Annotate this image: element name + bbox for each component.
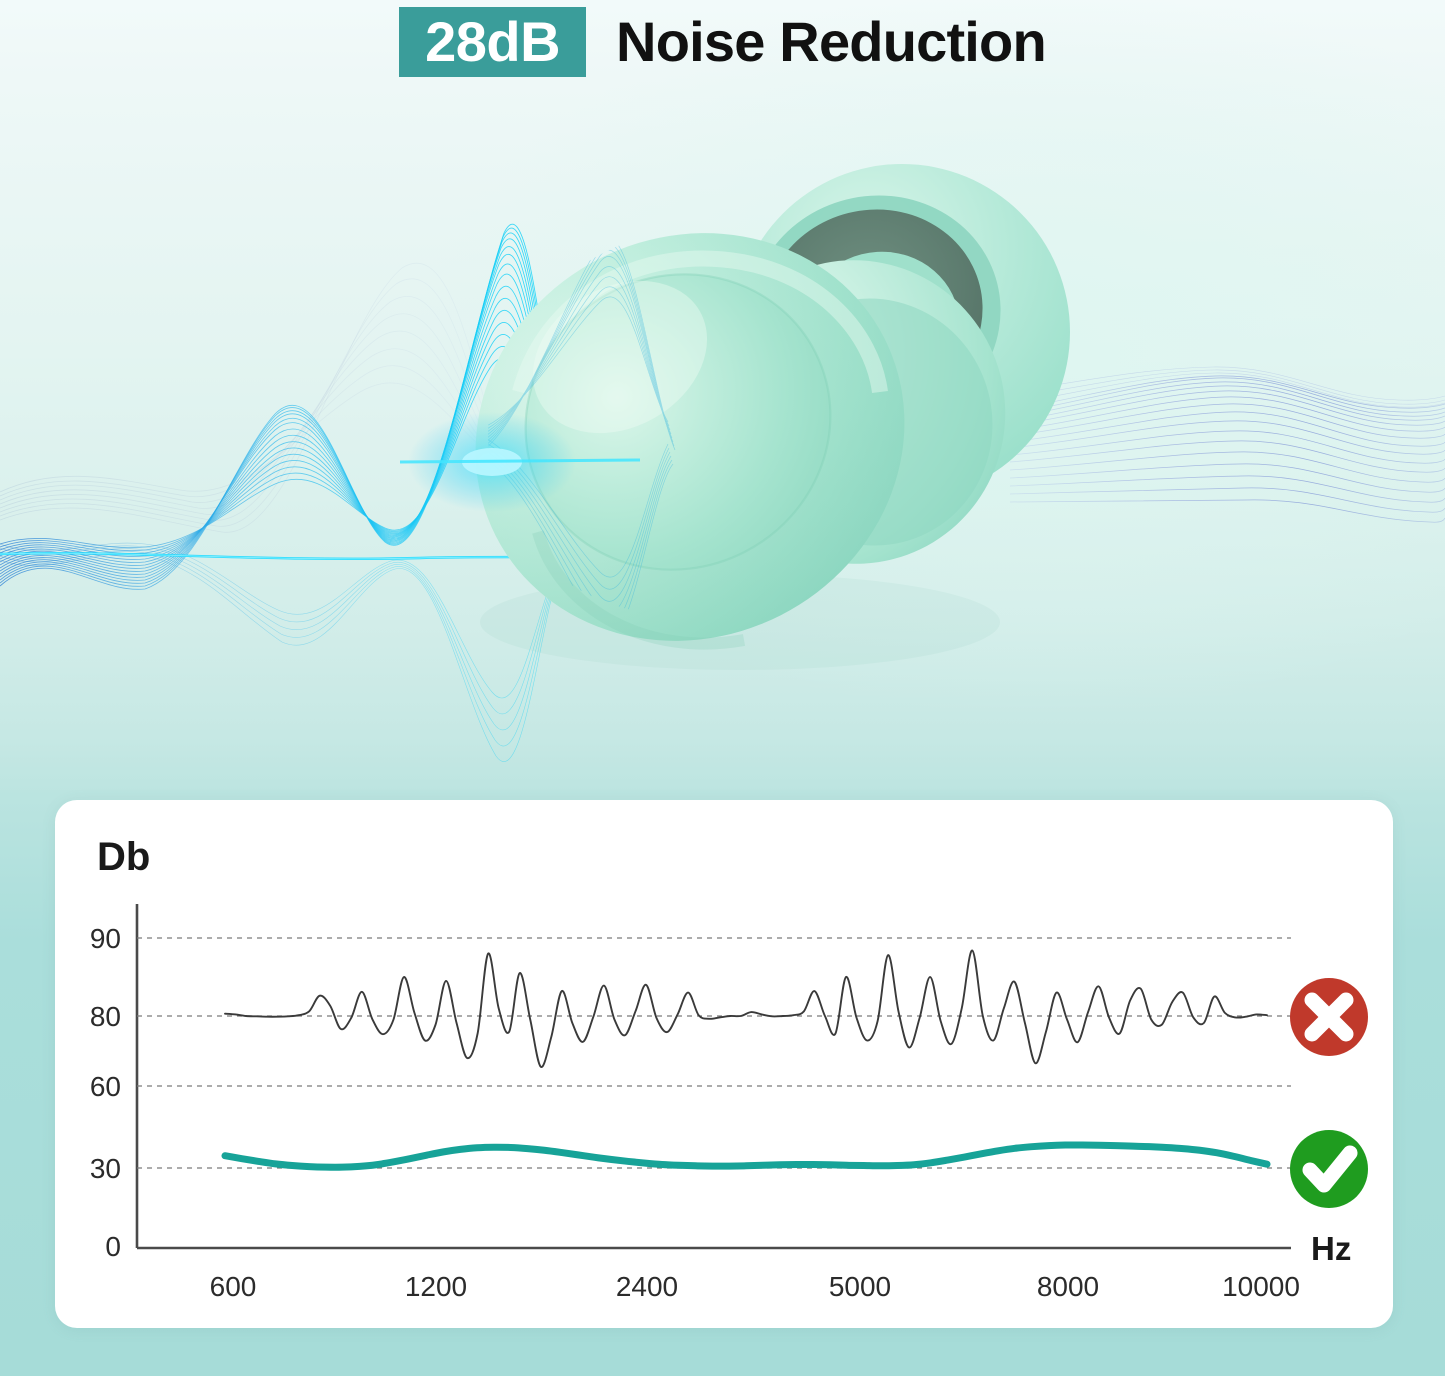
outgoing-soundwave-mesh: [1010, 367, 1445, 522]
noise-reduction-badge: 28dB: [399, 7, 586, 77]
series-ambient-noise-line: [225, 950, 1267, 1067]
y-tick-90: 90: [90, 923, 121, 954]
y-tick-80: 80: [90, 1001, 121, 1032]
page-title: Noise Reduction: [616, 6, 1046, 78]
y-tick-labels: 90 80 60 30 0: [90, 923, 121, 1262]
x-tick-labels: 600 1200 2400 5000 8000 10000: [210, 1271, 1300, 1302]
x-tick-2400: 2400: [616, 1271, 678, 1302]
y-tick-0: 0: [105, 1231, 121, 1262]
status-bad-indicator: [1290, 978, 1368, 1056]
header: 28dB Noise Reduction: [0, 0, 1445, 92]
x-axis-unit-label: Hz: [1311, 1230, 1351, 1267]
x-tick-1200: 1200: [405, 1271, 467, 1302]
y-tick-60: 60: [90, 1071, 121, 1102]
x-tick-8000: 8000: [1037, 1271, 1099, 1302]
y-tick-30: 30: [90, 1153, 121, 1184]
frequency-attenuation-chart: Db Hz 90 80 60 30 0 600: [55, 800, 1393, 1328]
product-scene: [0, 92, 1445, 792]
status-good-indicator: [1290, 1130, 1368, 1208]
gridlines: [137, 938, 1291, 1168]
product-scene-svg: [0, 92, 1445, 792]
series-attenuated-noise-line: [225, 1145, 1267, 1167]
x-tick-10000: 10000: [1222, 1271, 1300, 1302]
y-axis-unit-label: Db: [97, 835, 150, 879]
frequency-attenuation-chart-card: Db Hz 90 80 60 30 0 600: [55, 800, 1393, 1328]
x-tick-5000: 5000: [829, 1271, 891, 1302]
x-tick-600: 600: [210, 1271, 257, 1302]
product-infographic: 28dB Noise Reduction: [0, 0, 1445, 1376]
